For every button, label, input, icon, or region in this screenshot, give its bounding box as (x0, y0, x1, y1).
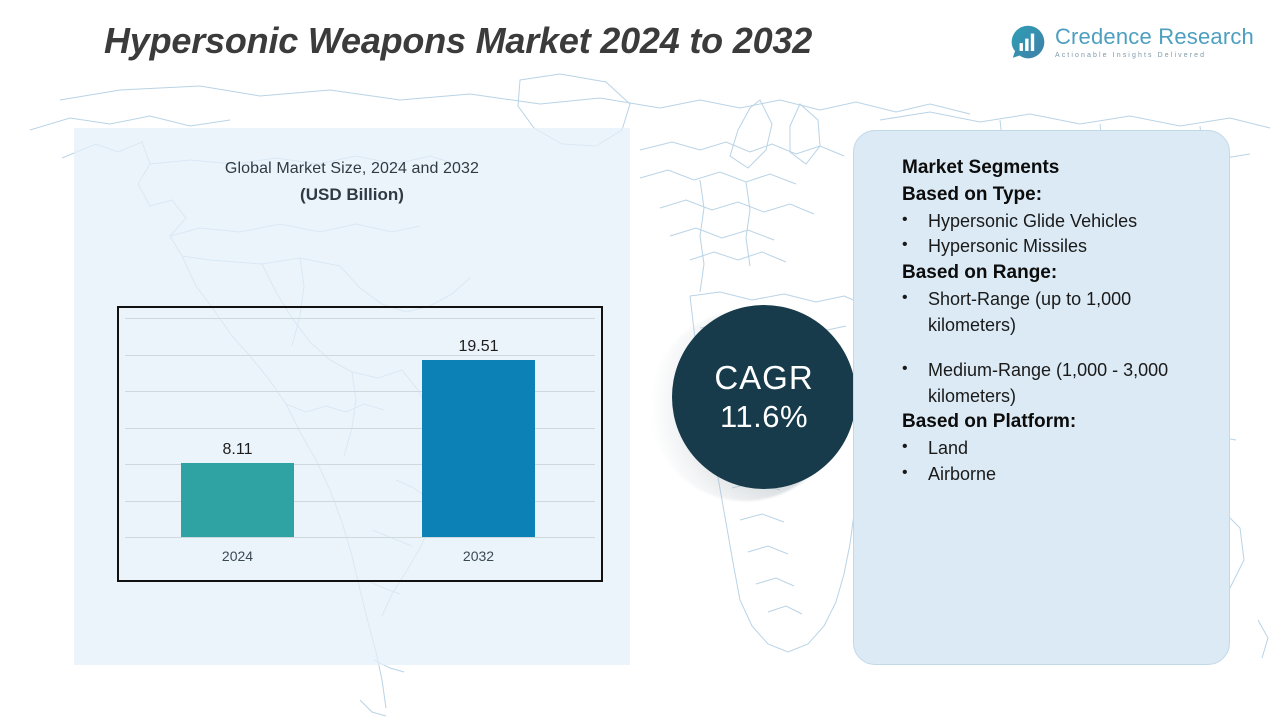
bar-chart: 8.11202419.512032 (117, 306, 603, 582)
logo-tagline: Actionable Insights Delivered (1055, 52, 1254, 59)
segment-group-heading: Based on Range: (902, 260, 1211, 287)
segment-group-heading: Based on Type: (902, 182, 1211, 209)
segment-item-label: Land (928, 436, 1211, 462)
bar-2024 (181, 463, 294, 537)
segment-spacer (944, 338, 1211, 358)
logo-text-block: Credence Research Actionable Insights De… (1055, 26, 1254, 59)
segments-title: Market Segments (902, 155, 1211, 182)
segment-item-label: Hypersonic Glide Vehicles (928, 209, 1211, 235)
segment-list-item: •Land (902, 436, 1211, 462)
segment-list-item: •Airborne (902, 462, 1211, 488)
category-label-2024: 2024 (181, 548, 294, 564)
segment-item-label: Short-Range (up to 1,000 kilometers) (928, 287, 1211, 338)
cagr-circle: CAGR 11.6% (672, 305, 856, 489)
bar-value-label-2024: 8.11 (181, 441, 294, 459)
segment-item-label: Hypersonic Missiles (928, 234, 1211, 260)
bullet-icon: • (902, 209, 928, 235)
bullet-icon: • (902, 462, 928, 488)
chart-subtitle-line2: (USD Billion) (74, 185, 630, 205)
cagr-badge: CAGR 11.6% (650, 305, 865, 520)
bullet-icon: • (902, 436, 928, 462)
segment-item-label: Airborne (928, 462, 1211, 488)
segments-body: Based on Type:•Hypersonic Glide Vehicles… (944, 182, 1211, 487)
segment-group-heading: Based on Platform: (902, 409, 1211, 436)
segment-item-label: Medium-Range (1,000 - 3,000 kilometers) (928, 358, 1211, 409)
segment-list-item: •Hypersonic Missiles (902, 234, 1211, 260)
cagr-label: CAGR (714, 360, 813, 396)
bullet-icon: • (902, 234, 928, 260)
bullet-icon: • (902, 358, 928, 409)
bar-chart-circle-icon (1010, 24, 1046, 60)
logo-name: Credence Research (1055, 26, 1254, 48)
bullet-icon: • (902, 287, 928, 338)
market-segments-panel: Market Segments Based on Type:•Hypersoni… (853, 130, 1230, 665)
chart-plot-area: 8.11202419.512032 (119, 308, 601, 580)
bar-value-label-2032: 19.51 (422, 338, 535, 356)
chart-subtitle-line1: Global Market Size, 2024 and 2032 (74, 160, 630, 178)
category-label-2032: 2032 (422, 548, 535, 564)
page-title: Hypersonic Weapons Market 2024 to 2032 (104, 20, 812, 62)
segment-list-item: •Hypersonic Glide Vehicles (902, 209, 1211, 235)
cagr-value: 11.6% (720, 399, 808, 435)
header: Hypersonic Weapons Market 2024 to 2032 C… (0, 0, 1280, 88)
brand-logo: Credence Research Actionable Insights De… (1010, 24, 1254, 60)
segment-list-item: •Short-Range (up to 1,000 kilometers) (902, 287, 1211, 338)
chart-subtitle: Global Market Size, 2024 and 2032 (USD B… (74, 160, 630, 205)
segment-list-item: •Medium-Range (1,000 - 3,000 kilometers) (902, 358, 1211, 409)
bar-2032 (422, 360, 535, 537)
chart-panel: Global Market Size, 2024 and 2032 (USD B… (74, 128, 630, 665)
